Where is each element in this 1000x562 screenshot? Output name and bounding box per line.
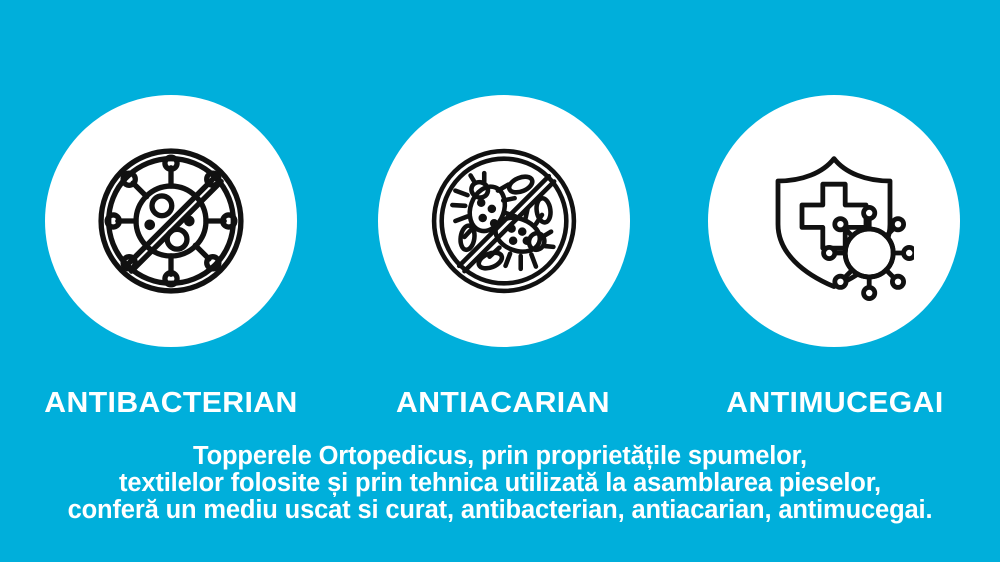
description-line-3: conferă un mediu uscat si curat, antibac… <box>0 497 1000 524</box>
no-dust-mite-icon <box>428 145 580 297</box>
description-paragraph: Topperele Ortopedicus, prin proprietățil… <box>0 443 1000 524</box>
badge-label-antibacterial: ANTIBACTERIAN <box>15 383 327 423</box>
badge-row <box>0 0 1000 380</box>
badge-label-antimite: ANTIACARIAN <box>347 383 659 423</box>
badge-antimite <box>378 95 630 347</box>
badge-antimould <box>708 95 960 347</box>
description-line-2: textilelor folosite și prin tehnica util… <box>0 470 1000 497</box>
badge-label-antimould: ANTIMUCEGAI <box>679 383 991 423</box>
description-line-1: Topperele Ortopedicus, prin proprietățil… <box>0 443 1000 470</box>
badge-antibacterial <box>45 95 297 347</box>
no-bacteria-icon <box>95 145 247 297</box>
shield-cross-microbe-icon <box>754 141 914 301</box>
caption-row: ANTIBACTERIAN ANTIACARIAN ANTIMUCEGAI <box>0 383 1000 423</box>
